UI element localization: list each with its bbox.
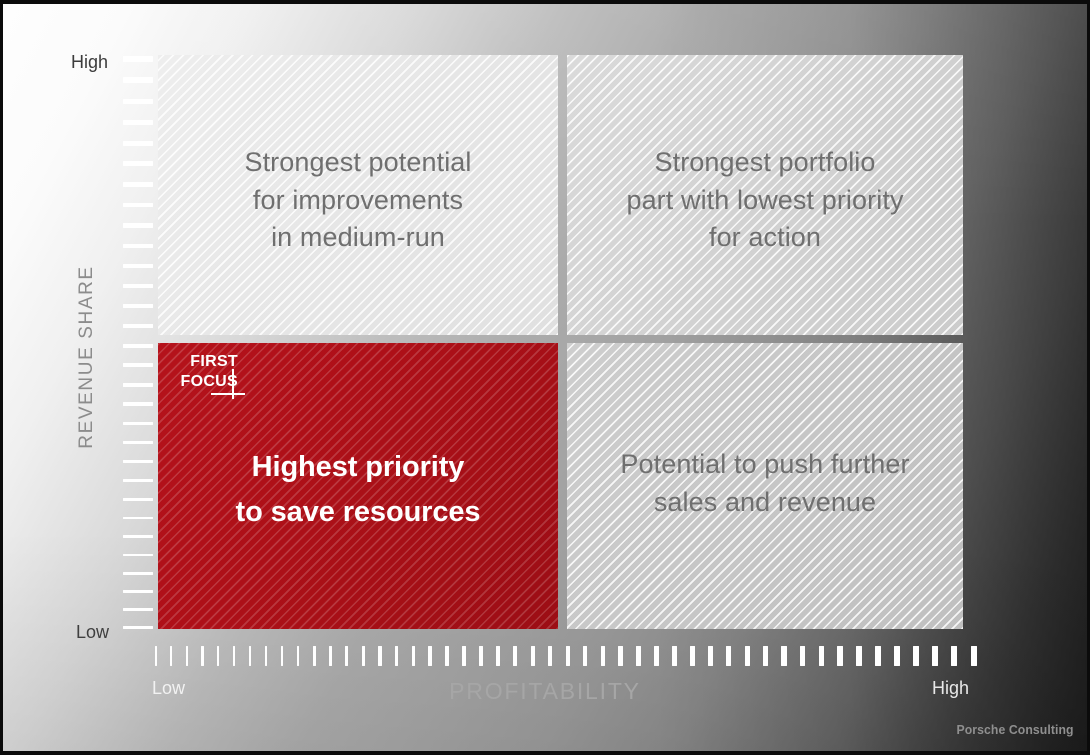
x-axis-tick	[636, 646, 640, 666]
quadrant-top-left-text: Strongest potential for improvements in …	[158, 144, 558, 257]
x-axis-tick	[479, 646, 483, 666]
y-axis-tick	[123, 203, 153, 208]
x-axis-tick	[672, 646, 677, 666]
x-axis-tick	[894, 646, 900, 666]
x-axis-tick	[690, 646, 695, 666]
x-axis-tick	[297, 646, 300, 666]
y-axis-tick	[123, 422, 153, 425]
x-axis-tick-scale	[155, 645, 977, 667]
x-axis-tick	[378, 646, 381, 666]
crosshair-horizontal-icon	[211, 393, 245, 395]
frame-border-top	[0, 0, 1090, 4]
brand-wordmark: Porsche Consulting	[957, 722, 1074, 737]
y-axis-tick	[123, 498, 153, 501]
y-axis-tick	[123, 304, 153, 308]
quadrant-bottom-right[interactable]: Potential to push further sales and reve…	[567, 343, 963, 629]
y-axis-tick	[123, 608, 153, 610]
x-axis-tick	[395, 646, 398, 666]
x-axis-tick	[329, 646, 332, 666]
x-axis-tick	[362, 646, 365, 666]
x-axis-tick	[583, 646, 587, 666]
x-axis-tick	[313, 646, 316, 666]
y-axis-tick	[123, 363, 153, 367]
x-axis-tick	[618, 646, 622, 666]
y-axis-tick	[123, 182, 153, 187]
y-axis-tick	[123, 383, 153, 387]
y-axis-tick	[123, 344, 153, 348]
y-axis-tick	[123, 460, 153, 463]
y-axis-tick	[123, 479, 153, 482]
x-axis-tick	[462, 646, 466, 666]
y-axis-tick	[123, 441, 153, 444]
x-axis-tick	[913, 646, 919, 666]
x-axis-tick	[781, 646, 786, 666]
x-axis-tick	[566, 646, 570, 666]
y-axis-tick	[123, 77, 153, 82]
y-axis-tick	[123, 120, 153, 125]
x-axis-tick	[971, 646, 977, 666]
matrix-chart-canvas: Strongest potential for improvements in …	[0, 0, 1090, 755]
x-axis-tick	[496, 646, 500, 666]
y-axis-tick	[123, 264, 153, 268]
first-focus-line-1: FIRST	[176, 352, 238, 372]
y-axis-tick	[123, 284, 153, 288]
x-axis-tick	[708, 646, 713, 666]
x-axis-tick	[932, 646, 938, 666]
quadrant-bottom-right-text: Potential to push further sales and reve…	[567, 446, 963, 521]
y-axis-low-label: Low	[76, 622, 109, 643]
x-axis-tick	[217, 646, 219, 666]
x-axis-tick	[875, 646, 881, 666]
x-axis-tick	[548, 646, 552, 666]
y-axis-tick	[123, 99, 153, 104]
x-axis-tick	[837, 646, 842, 666]
x-axis-tick	[513, 646, 517, 666]
x-axis-tick	[601, 646, 605, 666]
y-axis-tick	[123, 223, 153, 228]
y-axis-tick	[123, 572, 153, 575]
quadrant-top-left[interactable]: Strongest potential for improvements in …	[158, 55, 558, 335]
y-axis-title: REVENUE SHARE	[76, 257, 98, 457]
x-axis-title: PROFITABILITY	[0, 678, 1090, 705]
y-axis-tick	[123, 56, 153, 62]
x-axis-tick	[249, 646, 252, 666]
x-axis-tick	[345, 646, 348, 666]
x-axis-tick	[726, 646, 731, 666]
x-axis-tick	[763, 646, 768, 666]
y-axis-tick	[123, 535, 153, 538]
x-axis-tick	[951, 646, 957, 666]
x-axis-tick	[186, 646, 188, 666]
quadrant-top-right-text: Strongest portfolio part with lowest pri…	[567, 144, 963, 257]
x-axis-tick	[654, 646, 659, 666]
quadrant-bottom-left-text: Highest priority to save resources	[158, 445, 558, 535]
quadrant-top-right[interactable]: Strongest portfolio part with lowest pri…	[567, 55, 963, 335]
y-axis-high-label: High	[71, 52, 108, 73]
frame-border-left	[0, 0, 3, 755]
x-axis-tick	[428, 646, 431, 666]
y-axis-tick	[123, 402, 153, 406]
y-axis-tick	[123, 141, 153, 146]
frame-border-bottom	[0, 751, 1090, 755]
x-axis-tick	[856, 646, 861, 666]
x-axis-tick	[800, 646, 805, 666]
x-axis-tick	[745, 646, 750, 666]
x-axis-tick	[445, 646, 449, 666]
x-axis-tick	[819, 646, 824, 666]
y-axis-tick	[123, 244, 153, 249]
x-axis-tick	[201, 646, 203, 666]
y-axis-tick	[123, 554, 153, 557]
x-axis-tick	[170, 646, 172, 666]
y-axis-tick	[123, 161, 153, 166]
y-axis-tick	[123, 517, 153, 520]
x-axis-tick	[233, 646, 235, 666]
x-axis-tick	[265, 646, 268, 666]
y-axis-tick	[123, 626, 153, 628]
x-axis-tick	[155, 646, 157, 666]
first-focus-line-2: FOCUS	[176, 372, 238, 392]
x-axis-tick	[531, 646, 535, 666]
y-axis-tick-scale	[119, 56, 153, 629]
first-focus-badge: FIRST FOCUS	[176, 352, 238, 392]
x-axis-tick	[412, 646, 415, 666]
x-axis-tick	[281, 646, 284, 666]
y-axis-tick	[123, 590, 153, 592]
y-axis-tick	[123, 324, 153, 328]
